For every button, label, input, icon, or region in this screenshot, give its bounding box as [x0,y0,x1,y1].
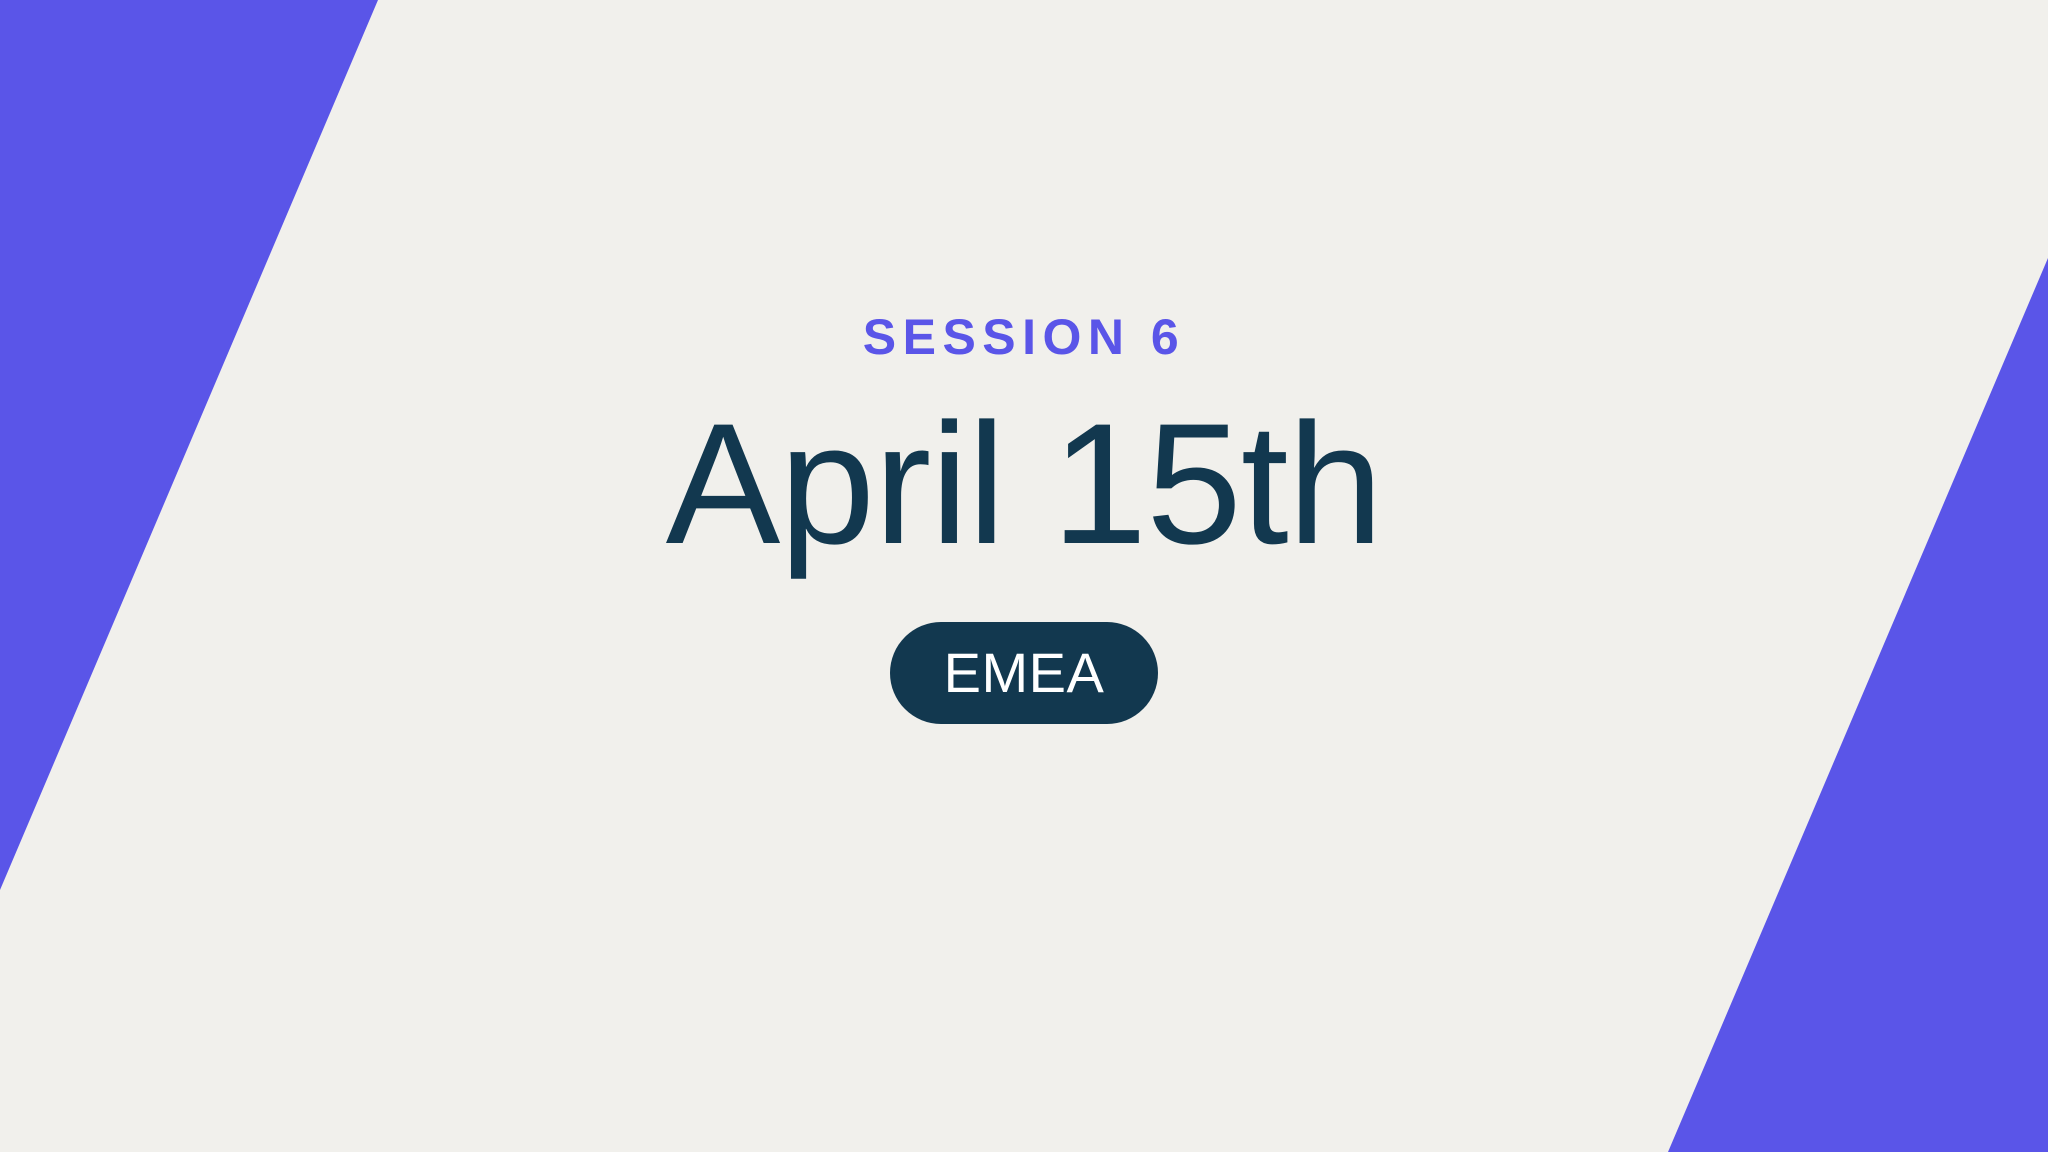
region-badge: EMEA [890,622,1158,724]
slide-canvas: SESSION 6 April 15th EMEA [0,0,2048,1152]
date-headline: April 15th [666,392,1383,578]
session-eyebrow: SESSION 6 [863,312,1186,362]
content-stack: SESSION 6 April 15th EMEA [0,0,2048,1152]
region-badge-label: EMEA [944,645,1105,701]
